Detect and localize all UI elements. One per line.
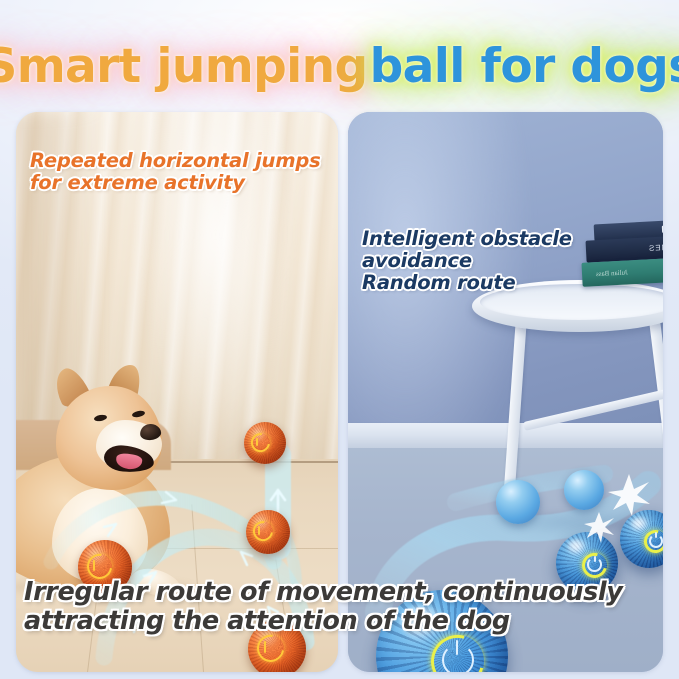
title-part-blue: ball for dogs (370, 43, 679, 90)
caption-left: Repeated horizontal jumps for extreme ac… (30, 150, 330, 194)
power-ring-icon (249, 517, 277, 545)
power-line-icon (258, 526, 260, 535)
power-line-icon (256, 438, 258, 446)
power-line-icon (456, 640, 458, 655)
blue-ball-blurred (496, 480, 540, 524)
caption-right: Intelligent obstacle avoidance Random ro… (362, 228, 670, 293)
caption-footer: Irregular route of movement, continuousl… (24, 578, 664, 635)
power-line-icon (93, 560, 95, 571)
baseboard (348, 423, 663, 449)
power-line-icon (264, 641, 266, 653)
title-part-orange: Smart jumping (0, 43, 370, 90)
page-title: Smart jumping ball for dogs (0, 30, 679, 102)
power-ring-icon (247, 429, 274, 456)
power-line-icon (655, 532, 657, 538)
impact-burst-icon (582, 510, 616, 549)
orange-ball (246, 510, 290, 554)
orange-ball (244, 422, 286, 464)
power-line-icon (594, 556, 596, 563)
blue-ball-blurred (564, 470, 604, 510)
